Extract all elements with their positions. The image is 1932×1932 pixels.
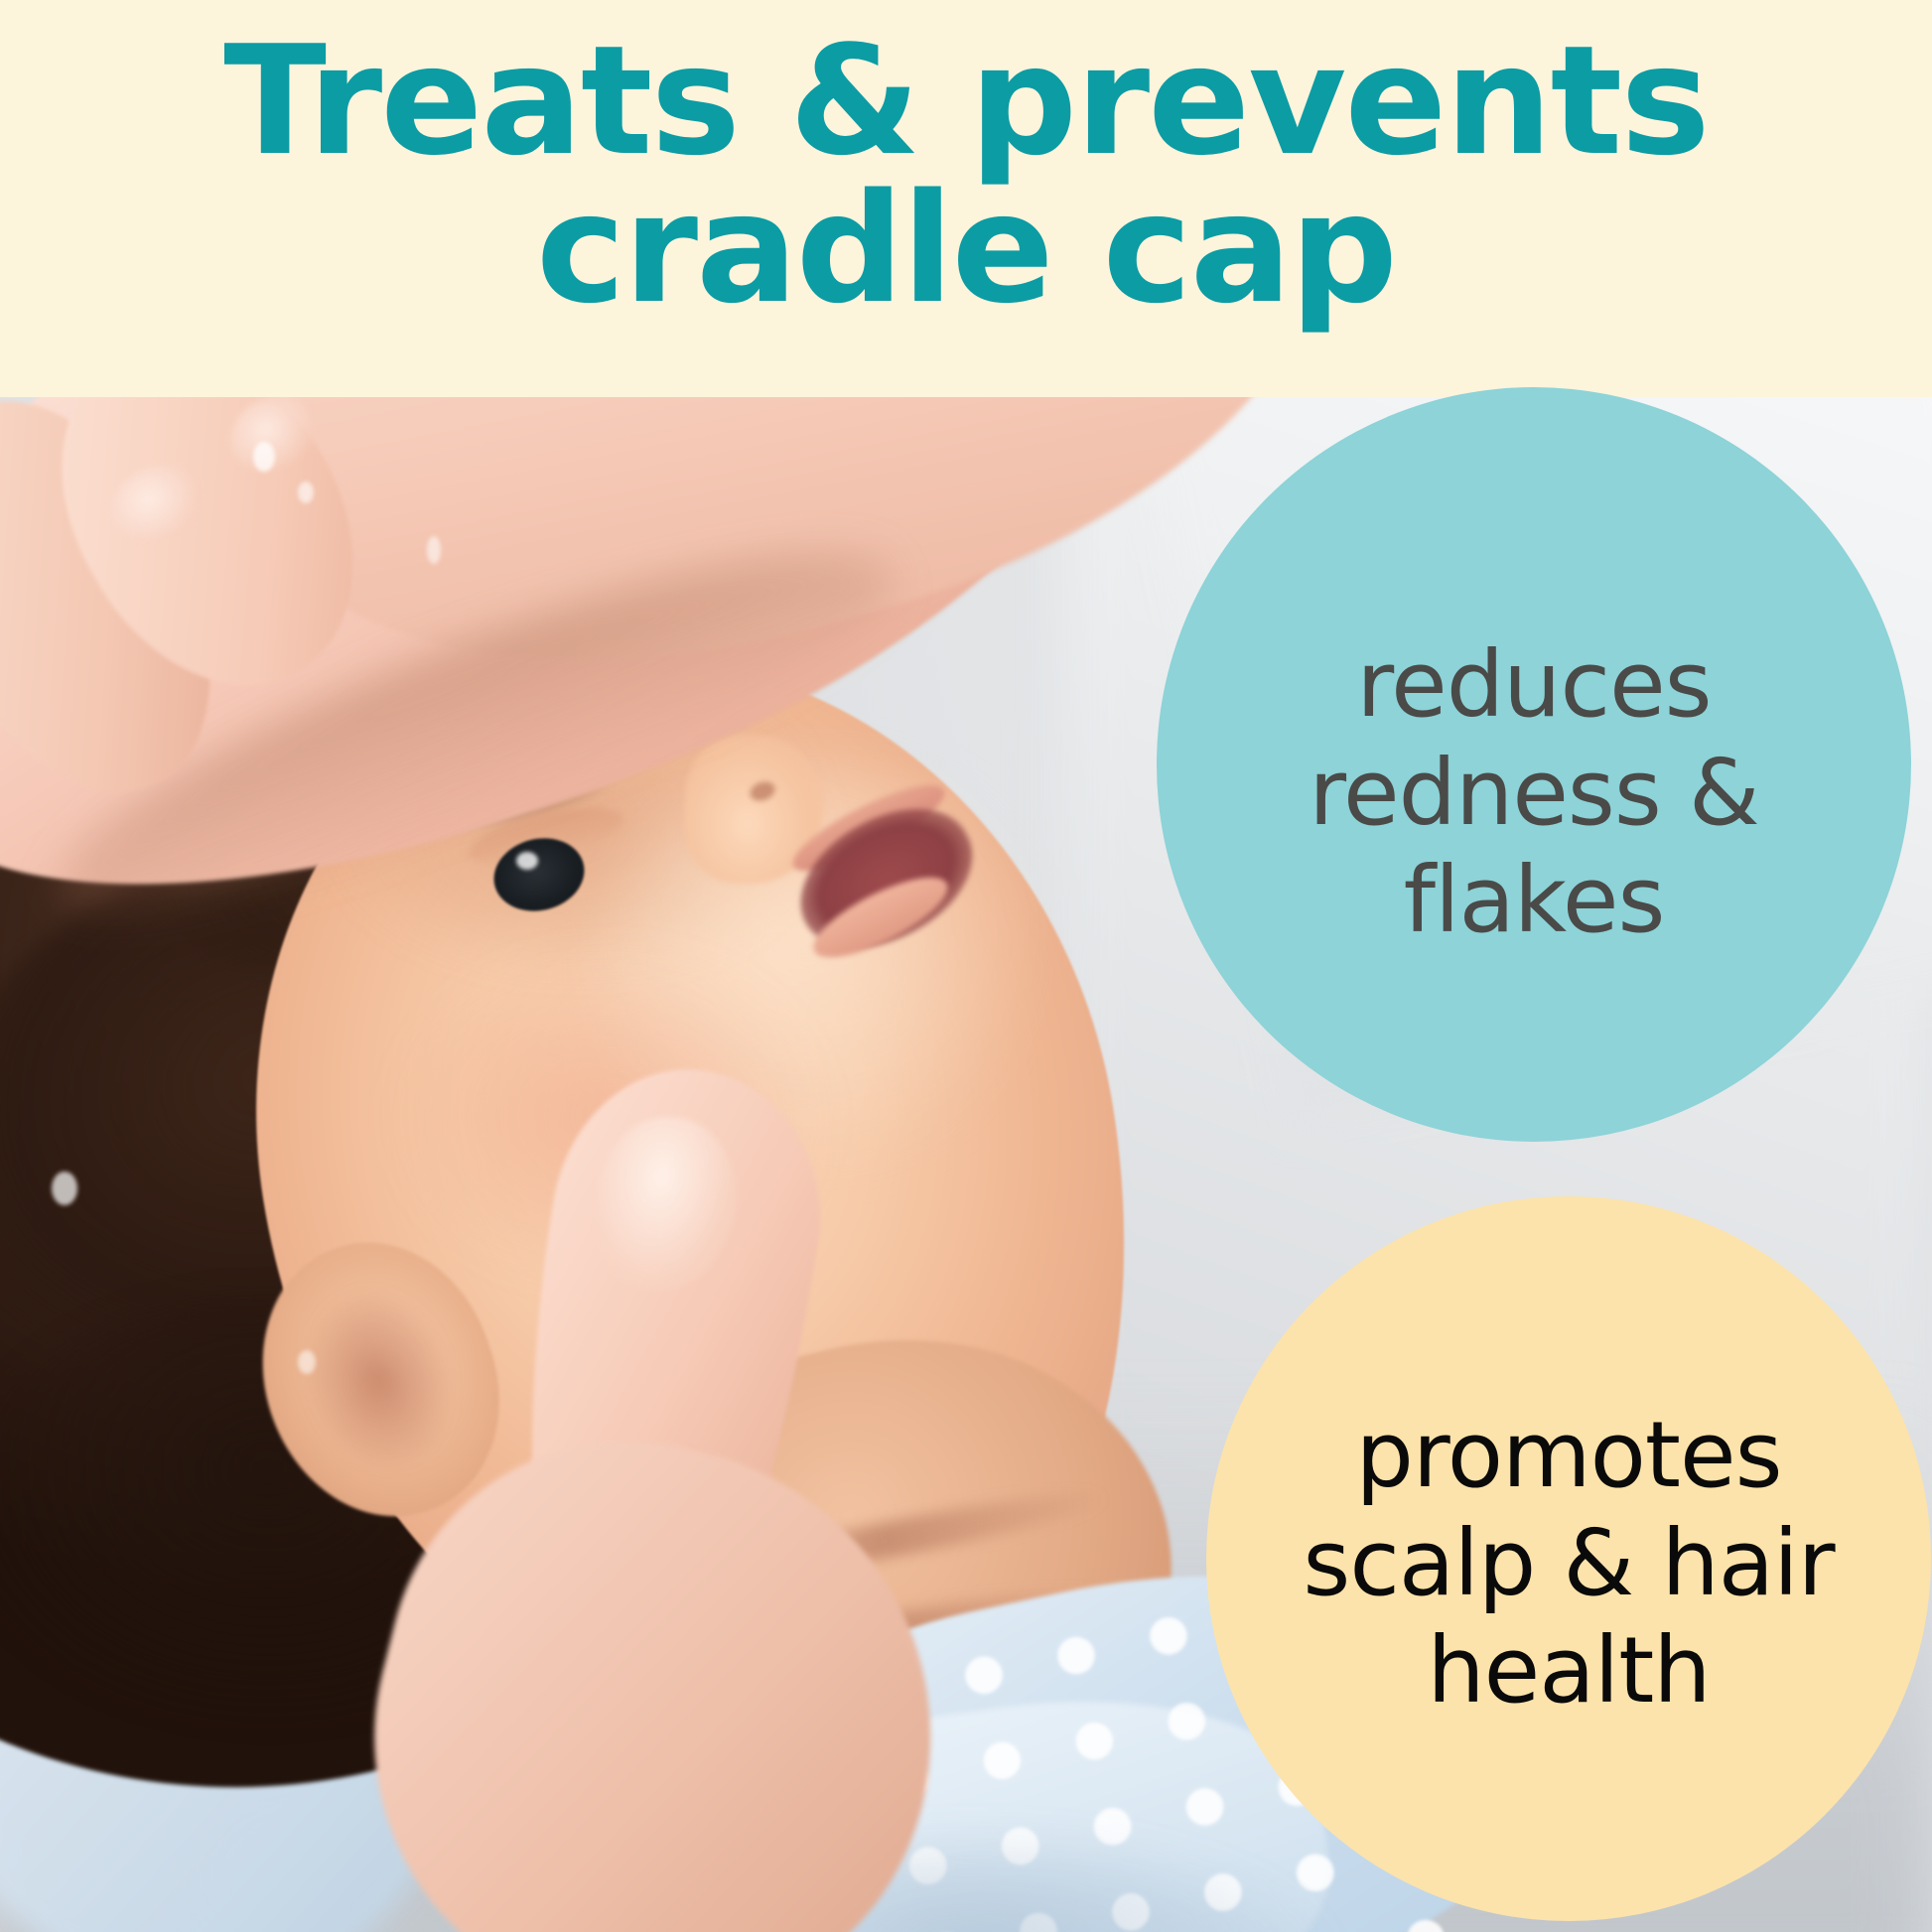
water-droplet [52,1172,77,1205]
page-title: Treats & prevents cradle cap [0,28,1932,324]
water-droplet [298,482,314,503]
benefit-badge-promotes-scalp-hair-health: promotes scalp & hair health [1206,1196,1931,1921]
benefit-badge-reduces-redness-flakes: reduces redness & flakes [1157,387,1911,1142]
baby-eye-highlight [516,852,538,870]
headline-line-2: cradle cap [0,176,1932,324]
marketing-graphic: Treats & prevents cradle cap reduces red… [0,0,1932,1932]
water-droplet [298,1350,316,1374]
benefit-badge-label: promotes scalp & hair health [1231,1392,1906,1725]
water-droplet [253,442,275,472]
water-droplet [427,536,441,564]
headline-line-1: Treats & prevents [0,28,1932,176]
benefit-badge-label: reduces redness & flakes [1226,574,1842,955]
